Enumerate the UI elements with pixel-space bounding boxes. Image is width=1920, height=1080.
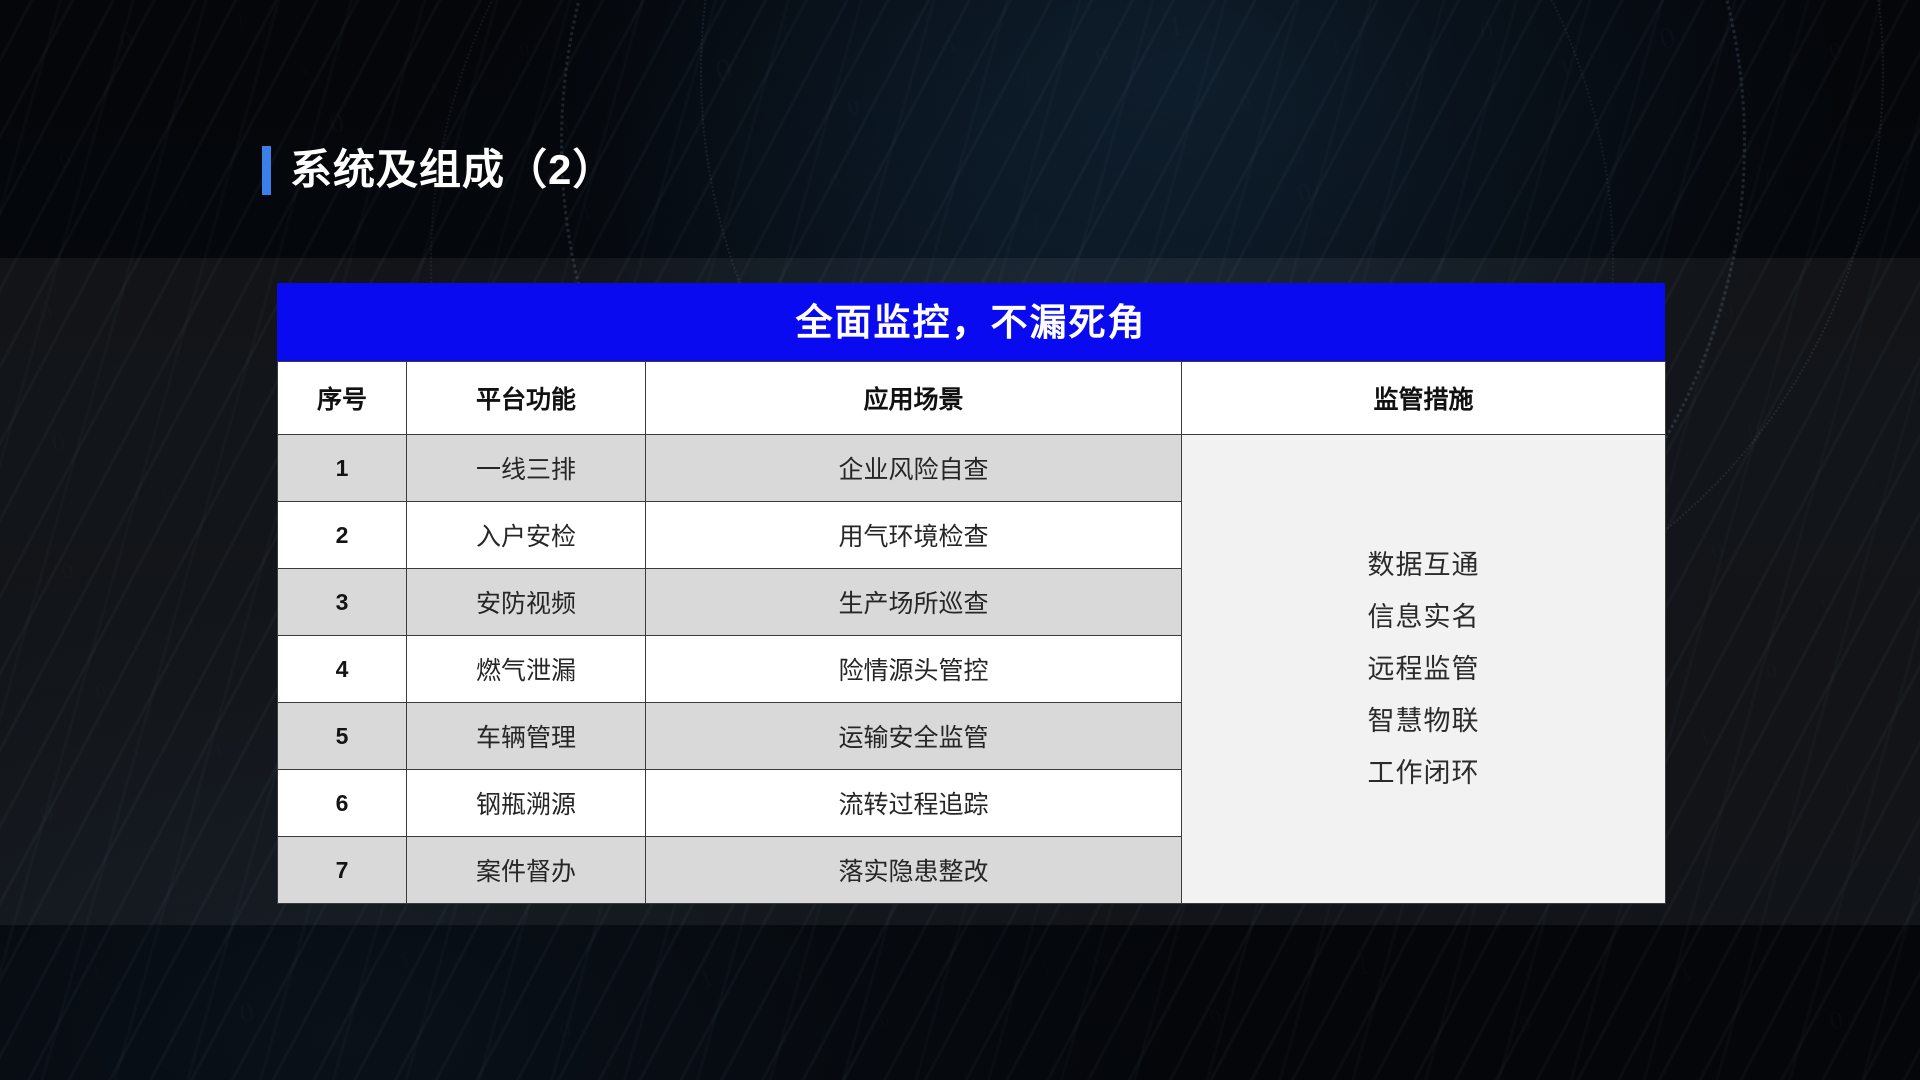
cell-function: 一线三排 bbox=[407, 435, 646, 502]
measures-list: 数据互通信息实名远程监管智慧物联工作闭环 bbox=[1182, 552, 1665, 787]
table-banner-text: 全面监控，不漏死角 bbox=[796, 304, 1147, 341]
title-accent-bar bbox=[262, 146, 271, 195]
measure-item: 远程监管 bbox=[1368, 656, 1480, 683]
table-row: 1一线三排企业风险自查数据互通信息实名远程监管智慧物联工作闭环 bbox=[278, 435, 1666, 502]
cell-function: 安防视频 bbox=[407, 569, 646, 636]
cell-scenario: 生产场所巡查 bbox=[646, 569, 1182, 636]
cell-function: 案件督办 bbox=[407, 837, 646, 904]
page-title: 系统及组成（2） bbox=[262, 140, 615, 200]
cell-no: 2 bbox=[278, 502, 407, 569]
monitoring-table: 全面监控，不漏死角 序号 平台功能 应用场景 监管措施 1一线三排企业风险自查数… bbox=[277, 283, 1665, 904]
cell-scenario: 流转过程追踪 bbox=[646, 770, 1182, 837]
measure-item: 工作闭环 bbox=[1368, 760, 1480, 787]
cell-function: 燃气泄漏 bbox=[407, 636, 646, 703]
table-body: 1一线三排企业风险自查数据互通信息实名远程监管智慧物联工作闭环2入户安检用气环境… bbox=[278, 435, 1666, 904]
cell-scenario: 落实隐患整改 bbox=[646, 837, 1182, 904]
table-header-row: 序号 平台功能 应用场景 监管措施 bbox=[278, 362, 1666, 435]
page-title-text: 系统及组成（2） bbox=[290, 149, 615, 191]
cell-scenario: 险情源头管控 bbox=[646, 636, 1182, 703]
column-header-function: 平台功能 bbox=[407, 362, 646, 435]
cell-no: 7 bbox=[278, 837, 407, 904]
table-head: 序号 平台功能 应用场景 监管措施 bbox=[278, 362, 1666, 435]
cell-scenario: 企业风险自查 bbox=[646, 435, 1182, 502]
column-header-measures: 监管措施 bbox=[1182, 362, 1666, 435]
cell-function: 钢瓶溯源 bbox=[407, 770, 646, 837]
measure-item: 信息实名 bbox=[1368, 604, 1480, 631]
column-header-scenario: 应用场景 bbox=[646, 362, 1182, 435]
cell-no: 3 bbox=[278, 569, 407, 636]
cell-measures: 数据互通信息实名远程监管智慧物联工作闭环 bbox=[1182, 435, 1666, 904]
cell-function: 入户安检 bbox=[407, 502, 646, 569]
cell-no: 4 bbox=[278, 636, 407, 703]
slide-canvas: 0110101010110101101010010101010010101010… bbox=[0, 0, 1920, 1080]
cell-no: 1 bbox=[278, 435, 407, 502]
cell-scenario: 用气环境检查 bbox=[646, 502, 1182, 569]
cell-function: 车辆管理 bbox=[407, 703, 646, 770]
table-banner: 全面监控，不漏死角 bbox=[277, 283, 1665, 361]
table-grid: 序号 平台功能 应用场景 监管措施 1一线三排企业风险自查数据互通信息实名远程监… bbox=[277, 361, 1666, 904]
column-header-no: 序号 bbox=[278, 362, 407, 435]
cell-no: 6 bbox=[278, 770, 407, 837]
cell-no: 5 bbox=[278, 703, 407, 770]
cell-scenario: 运输安全监管 bbox=[646, 703, 1182, 770]
measure-item: 数据互通 bbox=[1368, 552, 1480, 579]
measure-item: 智慧物联 bbox=[1368, 708, 1480, 735]
